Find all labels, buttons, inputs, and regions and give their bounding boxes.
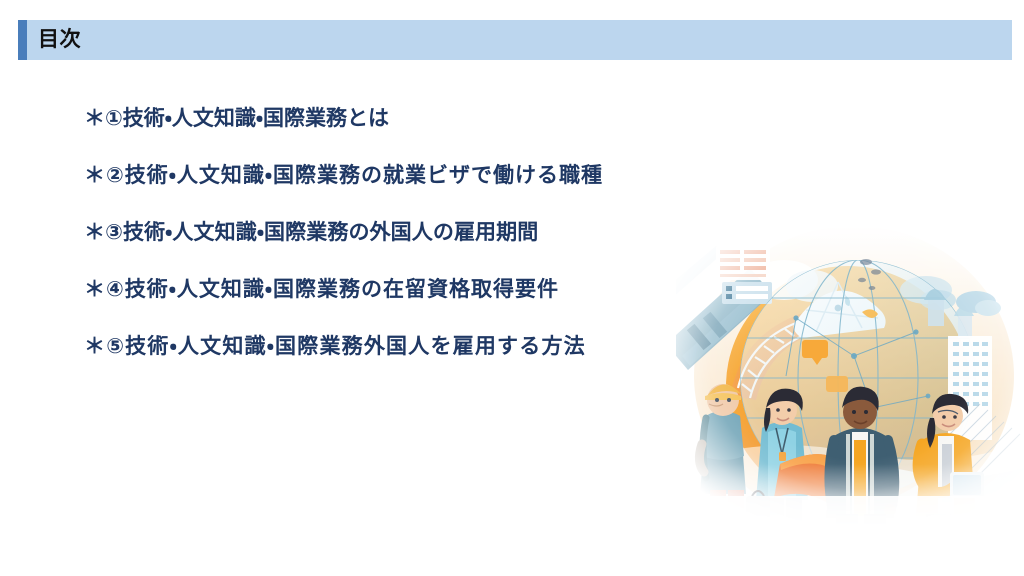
toc-item-1[interactable]: ＊①技術・人文知識・国際業務とは bbox=[84, 100, 784, 137]
page-title: 目次 bbox=[38, 20, 81, 60]
header-bar bbox=[18, 20, 1012, 60]
diverse-workers-globe-illustration bbox=[676, 228, 1024, 524]
toc-item-2[interactable]: ＊②技術・人文知識・国際業務の就業ビザで働ける職種 bbox=[84, 157, 784, 194]
header-accent-bar bbox=[18, 20, 27, 60]
slide: 目次 ＊①技術・人文知識・国際業務とは ＊②技術・人文知識・国際業務の就業ビザで… bbox=[0, 0, 1024, 576]
